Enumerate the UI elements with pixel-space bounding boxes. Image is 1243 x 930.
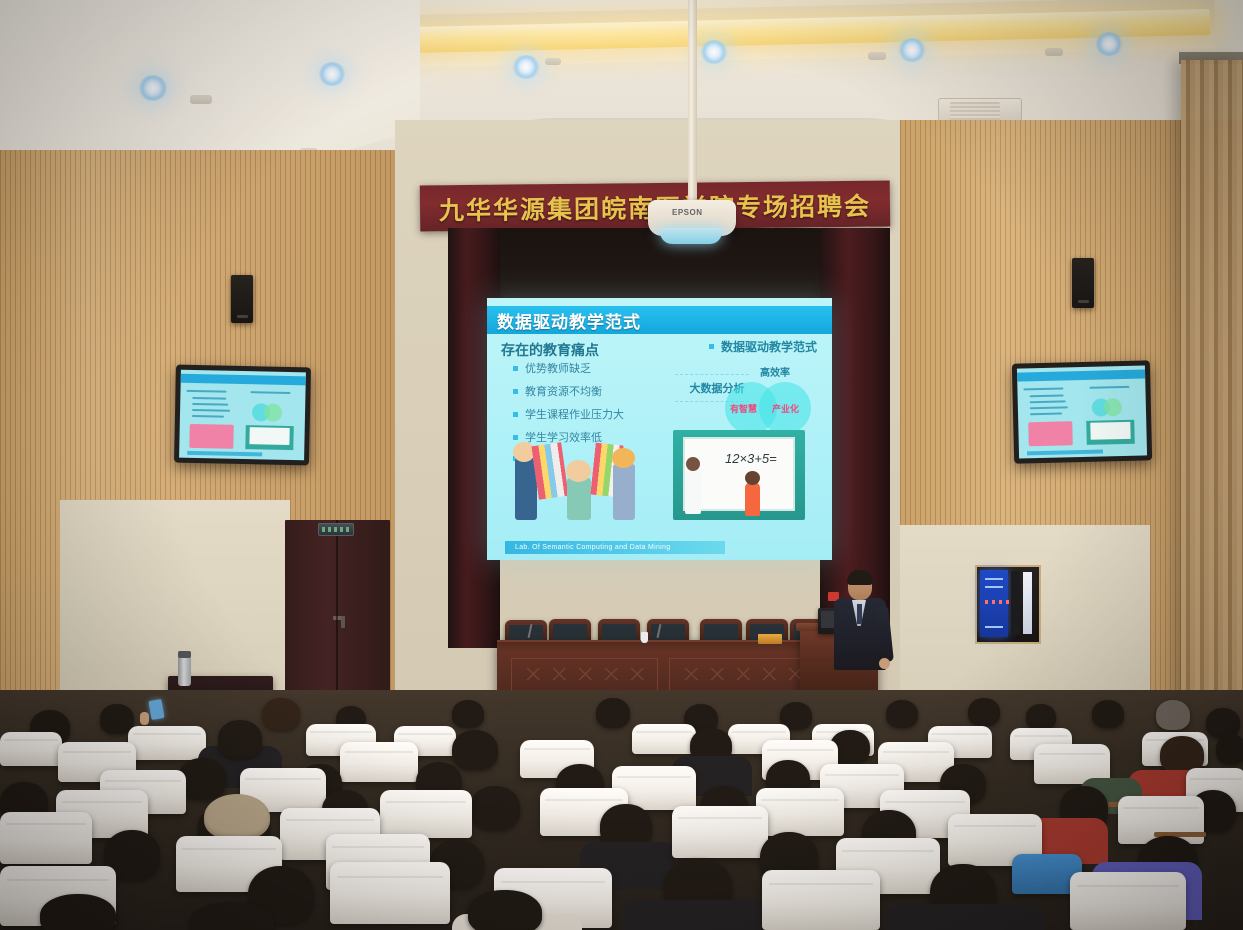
audience-head xyxy=(218,720,262,758)
audience-shoulders xyxy=(886,904,1044,930)
monitor-cartoon xyxy=(1028,421,1073,446)
presenter-hand xyxy=(879,658,890,669)
seat xyxy=(128,726,206,760)
rack-dark-column xyxy=(1011,571,1020,635)
bullet-square-icon xyxy=(513,389,518,394)
downlight xyxy=(138,75,168,101)
thermos-flask xyxy=(178,656,191,686)
slide-footer: Lab. Of Semantic Computing and Data Mini… xyxy=(505,541,725,554)
name-plate xyxy=(758,634,782,644)
venn-right-label: 产业化 xyxy=(772,402,799,415)
monitor-whiteboard xyxy=(245,425,293,450)
knit-cap xyxy=(204,794,270,840)
bullet-text: 优势教师缺乏 xyxy=(525,360,591,376)
projector-lens xyxy=(660,228,722,244)
presenter-hair xyxy=(847,570,873,585)
downlight xyxy=(318,62,346,86)
bullet-square-icon xyxy=(513,412,518,417)
table-chevron-detail xyxy=(521,668,647,680)
seat xyxy=(1070,872,1186,930)
audience-head xyxy=(886,700,918,728)
exit-door[interactable] xyxy=(285,520,390,692)
monitor-screen xyxy=(179,370,306,461)
seat xyxy=(0,732,62,766)
projection-screen: 数据驱动教学范式 存在的教育痛点 优势教师缺乏 教育资源不均衡 学生课程作业压力… xyxy=(487,298,832,560)
seat xyxy=(0,812,92,864)
cartoon-figure xyxy=(567,478,591,520)
projector-mount-pole xyxy=(688,0,697,208)
audience-head xyxy=(1216,734,1243,764)
presenter-tie xyxy=(857,604,862,624)
wall-speaker-left xyxy=(231,275,253,323)
audience-seating xyxy=(0,690,1243,930)
seat xyxy=(762,870,880,930)
ceiling-vent xyxy=(190,95,212,104)
water-cup xyxy=(641,632,648,643)
cartoon-figure-head xyxy=(566,460,591,482)
list-item: 学生课程作业压力大 xyxy=(513,406,624,422)
teacher-figure xyxy=(685,468,701,514)
monitor-venn-right xyxy=(1104,398,1122,416)
book-stack xyxy=(531,442,568,500)
monitor-venn-right xyxy=(264,403,282,421)
downlight xyxy=(700,40,728,64)
monitor-footer xyxy=(1027,449,1104,455)
bullet-square-icon xyxy=(513,366,518,371)
student-figure xyxy=(745,482,760,516)
bullet-text: 教育资源不均衡 xyxy=(525,383,602,399)
seat xyxy=(756,788,844,836)
ceiling-vent xyxy=(545,58,561,65)
slide-left-heading: 存在的教育痛点 xyxy=(501,340,599,360)
raised-hand xyxy=(140,712,149,725)
whiteboard-equation: 12×3+5= xyxy=(725,451,777,466)
audience-head xyxy=(40,894,116,930)
table-chevron-detail xyxy=(679,668,805,680)
downlight xyxy=(898,38,926,62)
audience-head xyxy=(1026,704,1056,730)
cartoon-figure-head xyxy=(612,448,635,468)
presentation-slide: 数据驱动教学范式 存在的教育痛点 优势教师缺乏 教育资源不均衡 学生课程作业压力… xyxy=(487,298,832,560)
window-drape xyxy=(1181,60,1243,750)
projector-brand-label: EPSON xyxy=(672,208,703,217)
monitor-screen xyxy=(1017,365,1147,458)
monitor-whiteboard xyxy=(1086,420,1135,445)
exit-sign-icon xyxy=(318,523,354,536)
seat xyxy=(330,862,450,924)
bullet-square-icon xyxy=(709,344,714,349)
door-handle-secondary[interactable] xyxy=(341,616,345,628)
equipment-rack-niche xyxy=(975,565,1041,644)
ceiling-vent xyxy=(868,52,886,60)
list-item: 优势教师缺乏 xyxy=(513,360,624,376)
audience-head xyxy=(452,700,484,728)
venn-left-label: 有智慧 xyxy=(730,402,757,415)
auditorium-scene: 九华华源集团皖南医学院专场招聘会 数据驱动教学范式 存在的教育痛点 优势教师缺乏… xyxy=(0,0,1243,930)
audience-head xyxy=(262,698,300,730)
audience-head xyxy=(1092,700,1124,728)
ceiling-vent xyxy=(1045,48,1063,56)
seat xyxy=(632,724,696,754)
blue-rack-panel[interactable] xyxy=(980,570,1008,637)
seat xyxy=(672,806,768,858)
list-item: 教育资源不均衡 xyxy=(513,383,624,399)
seat xyxy=(380,790,472,838)
slide-title: 数据驱动教学范式 xyxy=(497,308,641,333)
phone-screen xyxy=(148,699,164,720)
audience-shoulders xyxy=(622,900,772,930)
head-table xyxy=(497,640,827,697)
wall-monitor-left xyxy=(174,365,311,466)
wall-monitor-right xyxy=(1012,360,1152,463)
rack-indicator-lights xyxy=(985,600,1009,604)
audience-head xyxy=(452,730,498,770)
audience-head xyxy=(468,890,542,930)
audience-head xyxy=(968,698,1000,726)
cartoon-figure xyxy=(613,464,635,520)
bullet-text: 学生课程作业压力大 xyxy=(525,406,624,422)
rack-white-column xyxy=(1023,572,1032,634)
downlight xyxy=(1095,32,1123,56)
monitor-slide-title-bar xyxy=(1017,369,1145,381)
slide-right-heading-text: 数据驱动教学范式 xyxy=(721,338,817,355)
monitor-slide-title-bar xyxy=(181,374,306,386)
seat xyxy=(340,742,418,782)
presenter xyxy=(830,572,890,682)
monitor-cartoon xyxy=(189,424,233,449)
wall-speaker-right xyxy=(1072,258,1094,308)
venn-top-label: 高效率 xyxy=(730,364,820,379)
audience-head xyxy=(470,786,520,830)
cartoon-students-illustration xyxy=(509,426,647,524)
audience-head xyxy=(596,698,630,728)
classroom-photo: 12×3+5= xyxy=(673,430,805,520)
audience-head xyxy=(1156,700,1190,730)
monitor-footer xyxy=(187,451,262,457)
downlight xyxy=(512,55,540,79)
slide-right-heading: 数据驱动教学范式 xyxy=(709,338,817,355)
